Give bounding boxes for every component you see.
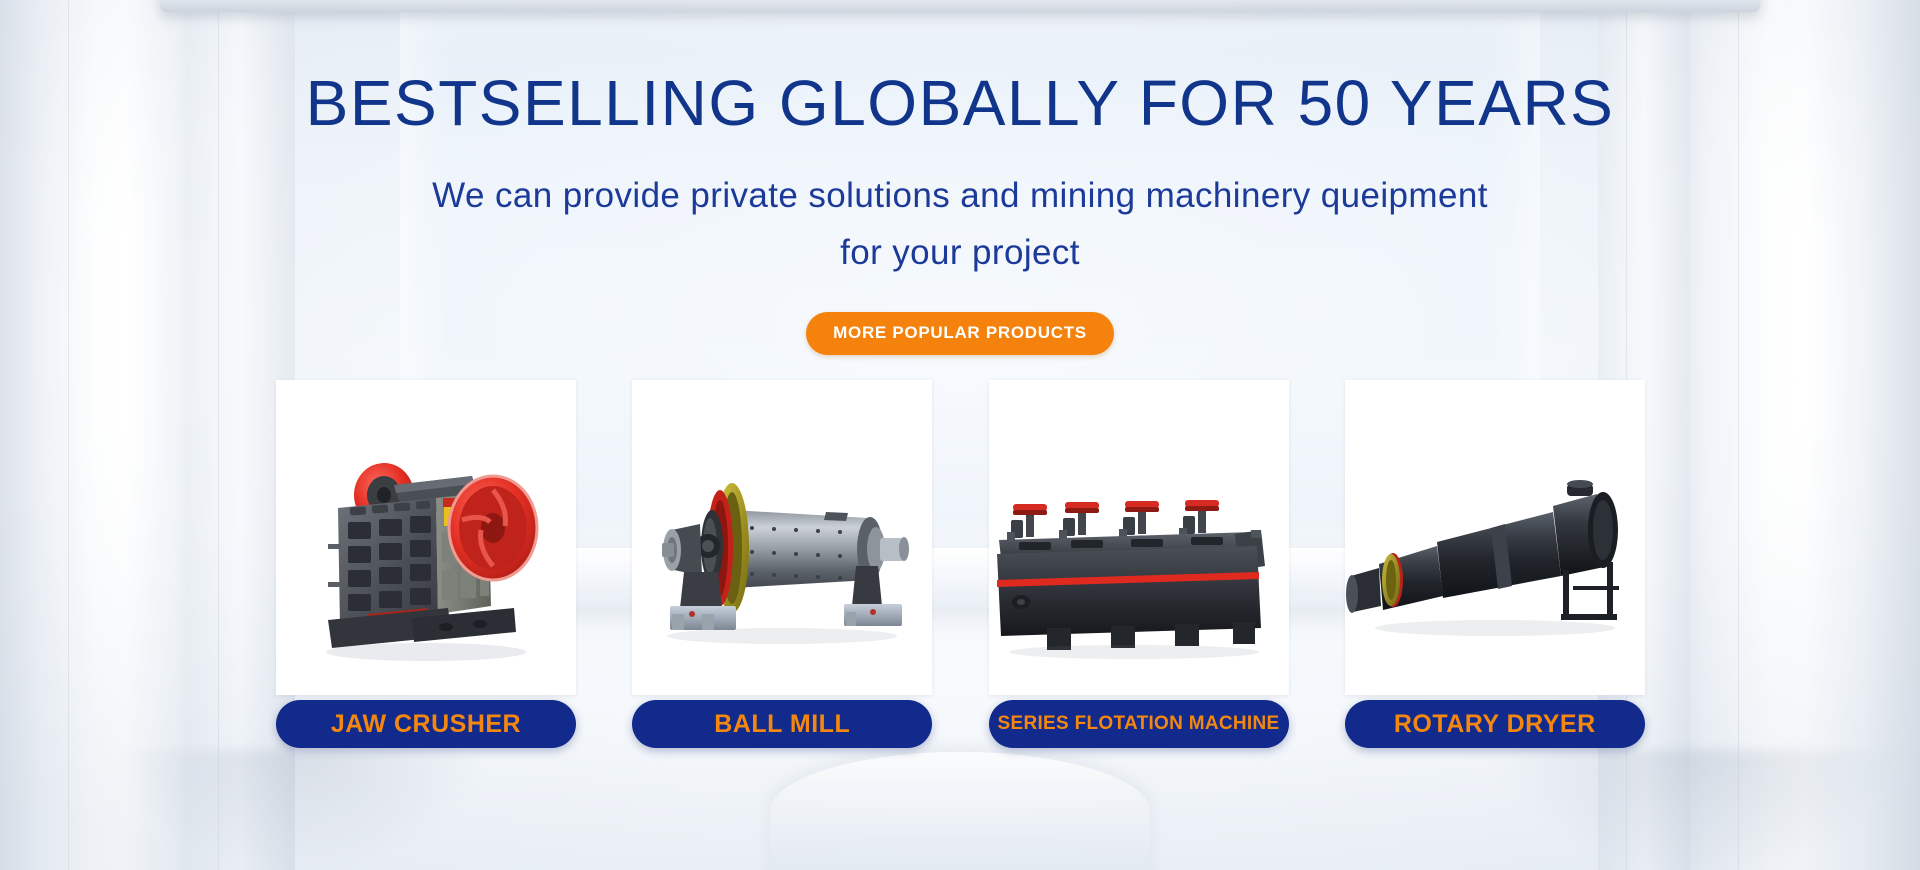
product-card-jaw-crusher[interactable]: JAW CRUSHER: [276, 380, 575, 760]
product-label-rotary-dryer[interactable]: ROTARY DRYER: [1345, 700, 1645, 748]
product-label-flotation-machine[interactable]: SERIES FLOTATION MACHINE: [989, 700, 1289, 748]
product-card-list: JAW CRUSHER: [276, 380, 1644, 760]
flotation-machine-photo: [989, 380, 1289, 695]
hero-banner: BESTSELLING GLOBALLY FOR 50 YEARS We can…: [0, 0, 1920, 870]
product-card-flotation-machine[interactable]: SERIES FLOTATION MACHINE: [989, 380, 1288, 760]
rotary-dryer-icon: [1345, 380, 1645, 695]
jaw-crusher-icon: [276, 380, 576, 695]
more-popular-products-button[interactable]: MORE POPULAR PRODUCTS: [806, 312, 1114, 355]
product-card-ball-mill[interactable]: BALL MILL: [632, 380, 931, 760]
hero-subheadline-line-1: We can provide private solutions and min…: [250, 168, 1670, 225]
product-card-rotary-dryer[interactable]: ROTARY DRYER: [1345, 380, 1644, 760]
product-label-ball-mill[interactable]: BALL MILL: [632, 700, 932, 748]
flotation-machine-icon: [989, 380, 1289, 695]
rotary-dryer-photo: [1345, 380, 1645, 695]
cta-container: MORE POPULAR PRODUCTS: [0, 312, 1920, 355]
hero-subheadline-line-2: for your project: [250, 225, 1670, 282]
ball-mill-icon: [632, 380, 932, 695]
product-label-jaw-crusher[interactable]: JAW CRUSHER: [276, 700, 576, 748]
jaw-crusher-photo: [276, 380, 576, 695]
hero-headline: BESTSELLING GLOBALLY FOR 50 YEARS: [0, 70, 1920, 137]
ball-mill-photo: [632, 380, 932, 695]
hero-subheadline: We can provide private solutions and min…: [250, 168, 1670, 281]
